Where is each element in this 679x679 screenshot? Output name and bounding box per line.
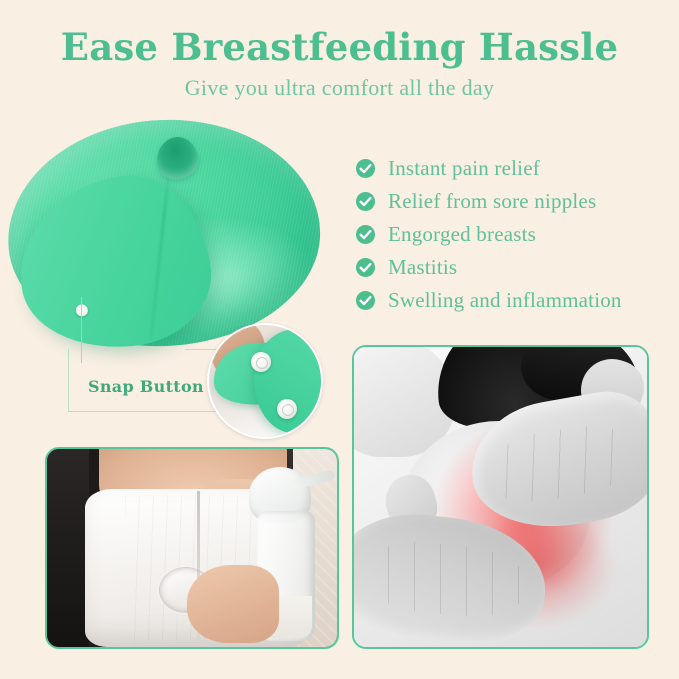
benefit-item: Relief from sore nipples: [356, 185, 666, 218]
breast-pad-body: [2, 112, 325, 354]
page-title: Ease Breastfeeding Hassle: [0, 26, 679, 69]
infographic-page: Ease Breastfeeding Hassle Give you ultra…: [0, 0, 679, 679]
benefit-label: Swelling and inflammation: [388, 288, 622, 313]
magnifier-snap-button-bottom: [277, 399, 297, 419]
photo-left-hand: [187, 565, 279, 643]
photo-breast-pain-area: [352, 345, 649, 649]
benefit-label: Engorged breasts: [388, 222, 536, 247]
check-circle-icon: [356, 192, 375, 211]
check-circle-icon: [356, 258, 375, 277]
benefit-label: Relief from sore nipples: [388, 189, 596, 214]
snap-button-label: Snap Button: [88, 377, 204, 396]
benefits-list: Instant pain relief Relief from sore nip…: [356, 152, 666, 317]
check-circle-icon: [356, 159, 375, 178]
benefit-item: Engorged breasts: [356, 218, 666, 251]
check-circle-icon: [356, 291, 375, 310]
magnifier-snap-button-top: [251, 352, 271, 372]
page-subtitle: Give you ultra comfort all the day: [0, 75, 679, 101]
photo-left-robe-left: [47, 449, 89, 647]
benefit-item: Swelling and inflammation: [356, 284, 666, 317]
benefit-label: Instant pain relief: [388, 156, 540, 181]
breast-pad-nipple-opening: [152, 134, 201, 183]
benefit-item: Mastitis: [356, 251, 666, 284]
breast-pad-flap: [10, 167, 219, 359]
check-circle-icon: [356, 225, 375, 244]
benefit-label: Mastitis: [388, 255, 457, 280]
photo-nursing-bra-with-pump: [45, 447, 339, 649]
snap-button-magnifier-inset: [207, 323, 323, 439]
benefit-item: Instant pain relief: [356, 152, 666, 185]
header: Ease Breastfeeding Hassle Give you ultra…: [0, 26, 679, 101]
